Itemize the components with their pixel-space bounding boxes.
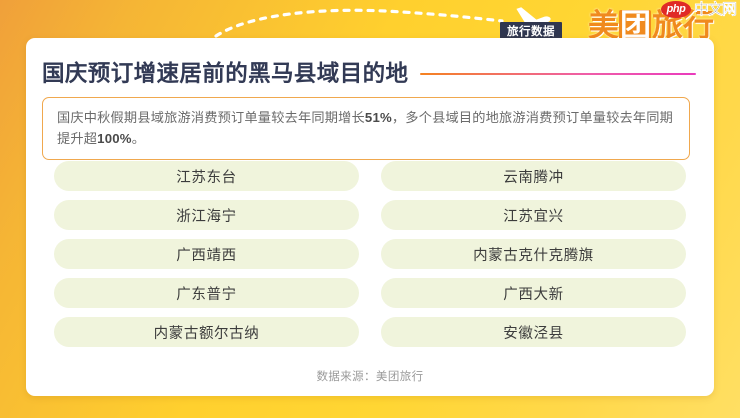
content-card: 国庆预订增速居前的黑马县域目的地 国庆中秋假期县域旅游消费预订单量较去年同期增长… (26, 38, 714, 396)
title-row: 国庆预订增速居前的黑马县域目的地 (42, 56, 696, 88)
watermark-site-label: 中文网 (694, 2, 736, 17)
summary-highlight-1: 51% (365, 110, 392, 125)
destination-pill[interactable]: 安徽泾县 (381, 317, 686, 347)
source-note: 数据来源：美团旅行 (26, 368, 714, 384)
summary-text: 国庆中秋假期县域旅游消费预订单量较去年同期增长51%，多个县域目的地旅游消费预订… (57, 107, 675, 149)
destination-pill[interactable]: 浙江海宁 (54, 200, 359, 230)
destination-pill[interactable]: 内蒙古额尔古纳 (54, 317, 359, 347)
summary-part-3: 。 (132, 131, 145, 146)
destination-pill[interactable]: 江苏东台 (54, 161, 359, 191)
destination-pill[interactable]: 江苏宜兴 (381, 200, 686, 230)
dashed-flight-path-icon (210, 0, 510, 42)
destination-pill[interactable]: 广西大新 (381, 278, 686, 308)
brand-char-1: 美 (588, 10, 618, 41)
brand-char-2: 团 (619, 10, 651, 41)
summary-part-1: 国庆中秋假期县域旅游消费预订单量较去年同期增长 (57, 110, 365, 125)
destination-pill[interactable]: 广西靖西 (54, 239, 359, 269)
php-watermark: php 中文网 (661, 1, 736, 18)
summary-highlight-2: 100% (97, 131, 132, 146)
destination-pill[interactable]: 云南腾冲 (381, 161, 686, 191)
destination-pill[interactable]: 广东普宁 (54, 278, 359, 308)
destination-pill-grid: 江苏东台 云南腾冲 浙江海宁 江苏宜兴 广西靖西 内蒙古克什克腾旗 广东普宁 广… (54, 161, 686, 347)
php-logo-icon: php (661, 1, 691, 18)
summary-box: 国庆中秋假期县域旅游消费预订单量较去年同期增长51%，多个县域目的地旅游消费预订… (42, 97, 690, 160)
destination-pill[interactable]: 内蒙古克什克腾旗 (381, 239, 686, 269)
page-title: 国庆预订增速居前的黑马县域目的地 (42, 56, 408, 88)
title-gradient-rule (420, 73, 696, 75)
infographic-root: 旅行数据 美 团 旅 行 php 中文网 国庆预订增速居前的黑马县域目的地 国庆… (0, 0, 740, 418)
